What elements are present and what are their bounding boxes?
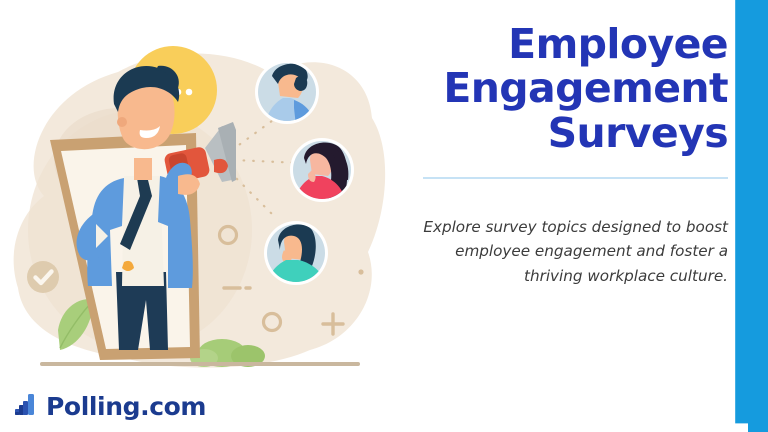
decor-dot <box>358 269 363 274</box>
text-column: Employee Engagement Surveys Explore surv… <box>400 22 728 289</box>
check-badge <box>27 261 59 293</box>
page-title: Employee Engagement Surveys <box>400 22 728 155</box>
ground-line <box>40 362 360 366</box>
title-divider <box>423 177 728 179</box>
avatar-woman-pink <box>290 138 354 202</box>
brand-logo-text: Polling.com <box>46 392 206 421</box>
megaphone-announcement-illustration <box>0 0 400 390</box>
bar-chart-icon <box>13 391 39 422</box>
slide-canvas: Employee Engagement Surveys Explore surv… <box>0 0 768 432</box>
brand-logo[interactable]: Polling.com <box>13 391 206 422</box>
page-subtitle: Explore survey topics designed to boost … <box>400 179 728 289</box>
right-accent-bar <box>728 0 768 432</box>
avatar-man-teal <box>264 221 328 285</box>
